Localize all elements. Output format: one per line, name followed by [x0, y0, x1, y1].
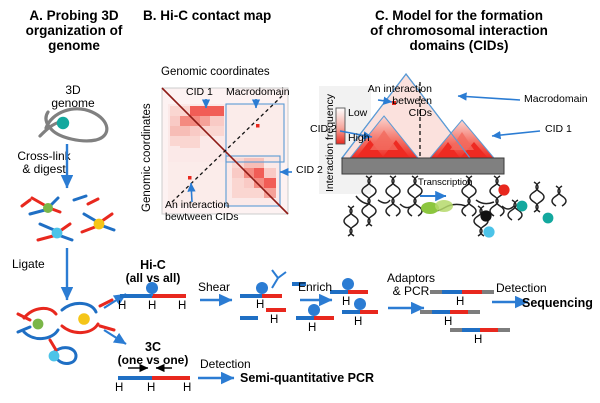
transcribed-gene-glyph — [420, 196, 453, 214]
model-label-interaction: An interaction between CIDs — [360, 84, 432, 119]
map-label-interaction: An interaction bewtween CIDs — [165, 200, 239, 224]
genome-loop-glyph — [40, 109, 107, 141]
map-label-cid1: CID 1 — [186, 87, 213, 99]
hic-mark-h3: H — [178, 300, 186, 313]
arrow-cid1-c — [492, 131, 540, 136]
model-label-cid2: CID 2 — [310, 124, 337, 136]
hic-mark-h7: H — [308, 322, 316, 335]
hic-title: Hi-C — [120, 258, 186, 272]
hic-mark-h10: H — [444, 316, 452, 329]
chromosome-bar — [342, 158, 504, 174]
step-label-shear: Shear — [198, 281, 230, 294]
ligated-products-glyph — [18, 300, 114, 363]
model-label-macrodomain: Macrodomain — [524, 94, 588, 106]
map-x-axis-label: Genomic coordinates — [161, 66, 270, 79]
step-label-adaptors-pcr: Adaptors & PCR — [380, 272, 442, 299]
step-label-enrich: Enrich — [298, 281, 332, 294]
step-label-detection-hic: Detection — [496, 282, 547, 295]
threec-subtitle: (one vs one) — [106, 354, 200, 367]
bead-teal-1 — [517, 201, 528, 212]
threec-molecule — [118, 368, 190, 378]
hic-mark-h6: H — [342, 296, 350, 309]
figure-root: A. Probing 3D organization of genome B. … — [0, 0, 600, 403]
arrow-macrodomain-c — [458, 96, 520, 100]
hic-subtitle: (all vs all) — [112, 272, 194, 285]
bead-lightblue — [483, 226, 494, 237]
digested-fragments-glyph — [22, 196, 114, 240]
map-y-axis-label: Genomic coordinates — [141, 103, 154, 212]
hic-mark-h5: H — [270, 314, 278, 327]
plectoneme-right-extra — [530, 182, 566, 212]
bead-red — [498, 184, 509, 195]
model-label-cid1: CID 1 — [545, 124, 572, 136]
threec-output-pcr: Semi-quantitative PCR — [240, 371, 374, 385]
threec-mark-h3: H — [183, 382, 191, 395]
threec-title: 3C — [120, 340, 186, 354]
hic-output-sequencing: Sequencing — [522, 296, 593, 310]
threec-mark-h1: H — [115, 382, 123, 395]
hic-mark-h2: H — [148, 300, 156, 313]
hic-mark-h9: H — [456, 296, 464, 309]
threec-mark-h2: H — [147, 382, 155, 395]
map-label-cid2: CID 2 — [296, 165, 323, 177]
model-label-transcription: Transcription — [418, 178, 473, 189]
step-label-detection-3c: Detection — [200, 358, 251, 371]
bead-teal-2 — [543, 213, 554, 224]
map-label-macrodomain: Macrodomain — [226, 87, 290, 99]
hic-mark-h4: H — [256, 299, 264, 312]
colorbar-title: Interaction frequency — [325, 94, 337, 192]
colorbar-high-label: High — [348, 133, 370, 145]
hic-mark-h11: H — [474, 334, 482, 347]
figure-vector-layer — [0, 0, 600, 403]
hic-mark-h1: H — [118, 300, 126, 313]
interaction-dot-upper — [256, 124, 260, 128]
hic-contact-map — [162, 88, 288, 214]
bead-black — [480, 210, 491, 221]
hic-mark-h8: H — [354, 316, 362, 329]
interaction-dot-lower — [188, 176, 192, 180]
